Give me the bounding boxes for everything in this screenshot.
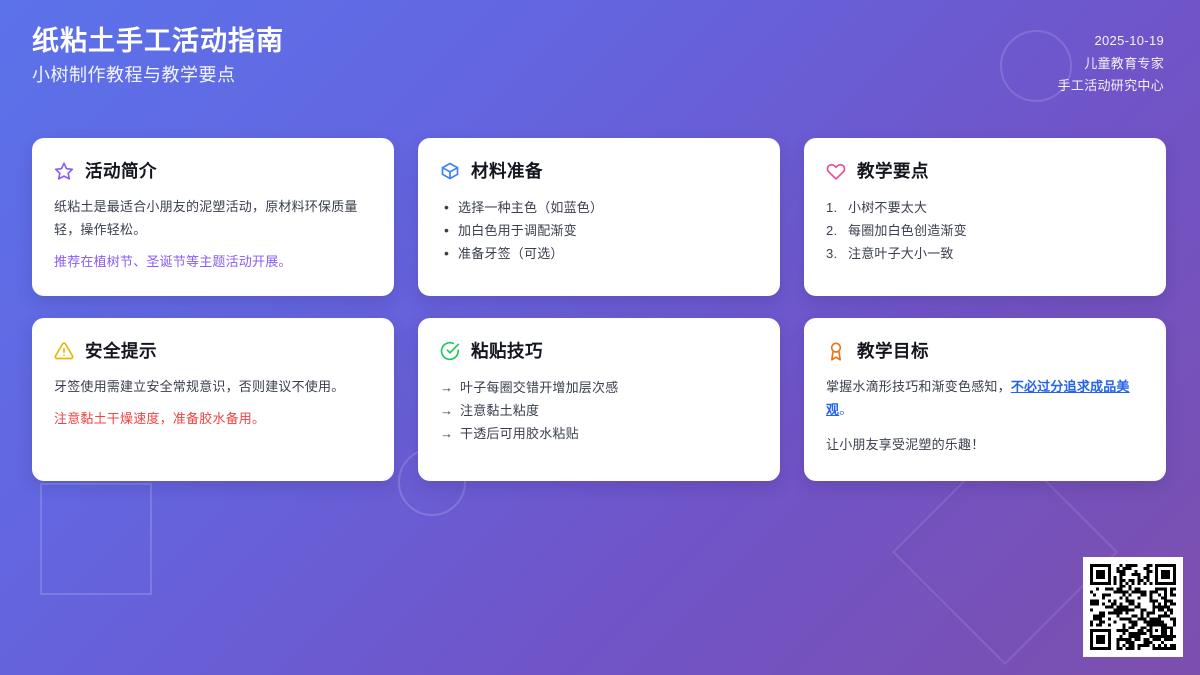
list-item: 每圈加白色创造渐变 <box>826 219 1144 242</box>
card-6: 教学目标掌握水滴形技巧和渐变色感知，不必过分追求成品美观。让小朋友享受泥塑的乐趣… <box>804 318 1166 481</box>
card-header: 材料准备 <box>440 158 758 183</box>
box-icon <box>440 161 460 181</box>
star-icon <box>54 161 74 181</box>
heart-icon <box>826 161 846 181</box>
list-item: 注意叶子大小一致 <box>826 242 1144 265</box>
header-titles: 纸粘土手工活动指南 小树制作教程与教学要点 <box>32 26 284 87</box>
card-title: 粘贴技巧 <box>471 338 543 363</box>
card-title: 教学目标 <box>857 338 929 363</box>
card-title: 材料准备 <box>471 158 543 183</box>
list-item: 注意黏土粘度 <box>440 399 758 422</box>
card-title: 教学要点 <box>857 158 929 183</box>
qr-code[interactable] <box>1083 557 1183 657</box>
card-header: 安全提示 <box>54 338 372 363</box>
list-item: 加白色用于调配渐变 <box>440 219 758 242</box>
card-header: 教学要点 <box>826 158 1144 183</box>
card-header: 教学目标 <box>826 338 1144 363</box>
list-item: 干透后可用胶水粘贴 <box>440 422 758 445</box>
decorative-square <box>40 483 152 595</box>
card-paragraph: 牙签使用需建立安全常规意识，否则建议不使用。 <box>54 376 372 399</box>
qr-code-canvas <box>1090 564 1176 650</box>
card-list: 叶子每圈交错开增加层次感注意黏土粘度干透后可用胶水粘贴 <box>440 376 758 445</box>
card-paragraph: 让小朋友享受泥塑的乐趣！ <box>826 434 1144 457</box>
card-5: 粘贴技巧叶子每圈交错开增加层次感注意黏土粘度干透后可用胶水粘贴 <box>418 318 780 481</box>
card-2: 材料准备选择一种主色（如蓝色）加白色用于调配渐变准备牙签（可选） <box>418 138 780 296</box>
card-header: 活动简介 <box>54 158 372 183</box>
card-paragraph: 推荐在植树节、圣诞节等主题活动开展。 <box>54 251 372 274</box>
card-paragraph: 纸粘土是最适合小朋友的泥塑活动，原材料环保质量轻，操作轻松。 <box>54 196 372 242</box>
card-paragraph: 掌握水滴形技巧和渐变色感知，不必过分追求成品美观。 <box>826 376 1144 422</box>
list-item: 准备牙签（可选） <box>440 242 758 265</box>
award-icon <box>826 341 846 361</box>
check-circle-icon <box>440 341 460 361</box>
card-list: 选择一种主色（如蓝色）加白色用于调配渐变准备牙签（可选） <box>440 196 758 265</box>
card-paragraph: 注意黏土干燥速度，准备胶水备用。 <box>54 408 372 431</box>
card-4: 安全提示牙签使用需建立安全常规意识，否则建议不使用。注意黏土干燥速度，准备胶水备… <box>32 318 394 481</box>
page-title: 纸粘土手工活动指南 <box>32 26 284 57</box>
card-grid: 活动简介纸粘土是最适合小朋友的泥塑活动，原材料环保质量轻，操作轻松。推荐在植树节… <box>0 122 1200 481</box>
card-1: 活动简介纸粘土是最适合小朋友的泥塑活动，原材料环保质量轻，操作轻松。推荐在植树节… <box>32 138 394 296</box>
list-item: 叶子每圈交错开增加层次感 <box>440 376 758 399</box>
goal-lead-text: 掌握水滴形技巧和渐变色感知， <box>826 379 1011 394</box>
header-organization: 手工活动研究中心 <box>1058 77 1164 95</box>
goal-tail-text: 。 <box>839 402 852 417</box>
card-title: 活动简介 <box>85 158 157 183</box>
list-item: 小树不要太大 <box>826 196 1144 219</box>
card-header: 粘贴技巧 <box>440 338 758 363</box>
page-header: 纸粘土手工活动指南 小树制作教程与教学要点 2025-10-19 儿童教育专家 … <box>0 0 1200 122</box>
warning-triangle-icon <box>54 341 74 361</box>
header-author: 儿童教育专家 <box>1084 55 1164 73</box>
page-subtitle: 小树制作教程与教学要点 <box>32 65 284 87</box>
header-meta: 2025-10-19 儿童教育专家 手工活动研究中心 <box>1058 26 1164 95</box>
card-list: 小树不要太大每圈加白色创造渐变注意叶子大小一致 <box>826 196 1144 265</box>
header-date: 2025-10-19 <box>1095 32 1165 50</box>
card-title: 安全提示 <box>85 338 157 363</box>
card-3: 教学要点小树不要太大每圈加白色创造渐变注意叶子大小一致 <box>804 138 1166 296</box>
list-item: 选择一种主色（如蓝色） <box>440 196 758 219</box>
